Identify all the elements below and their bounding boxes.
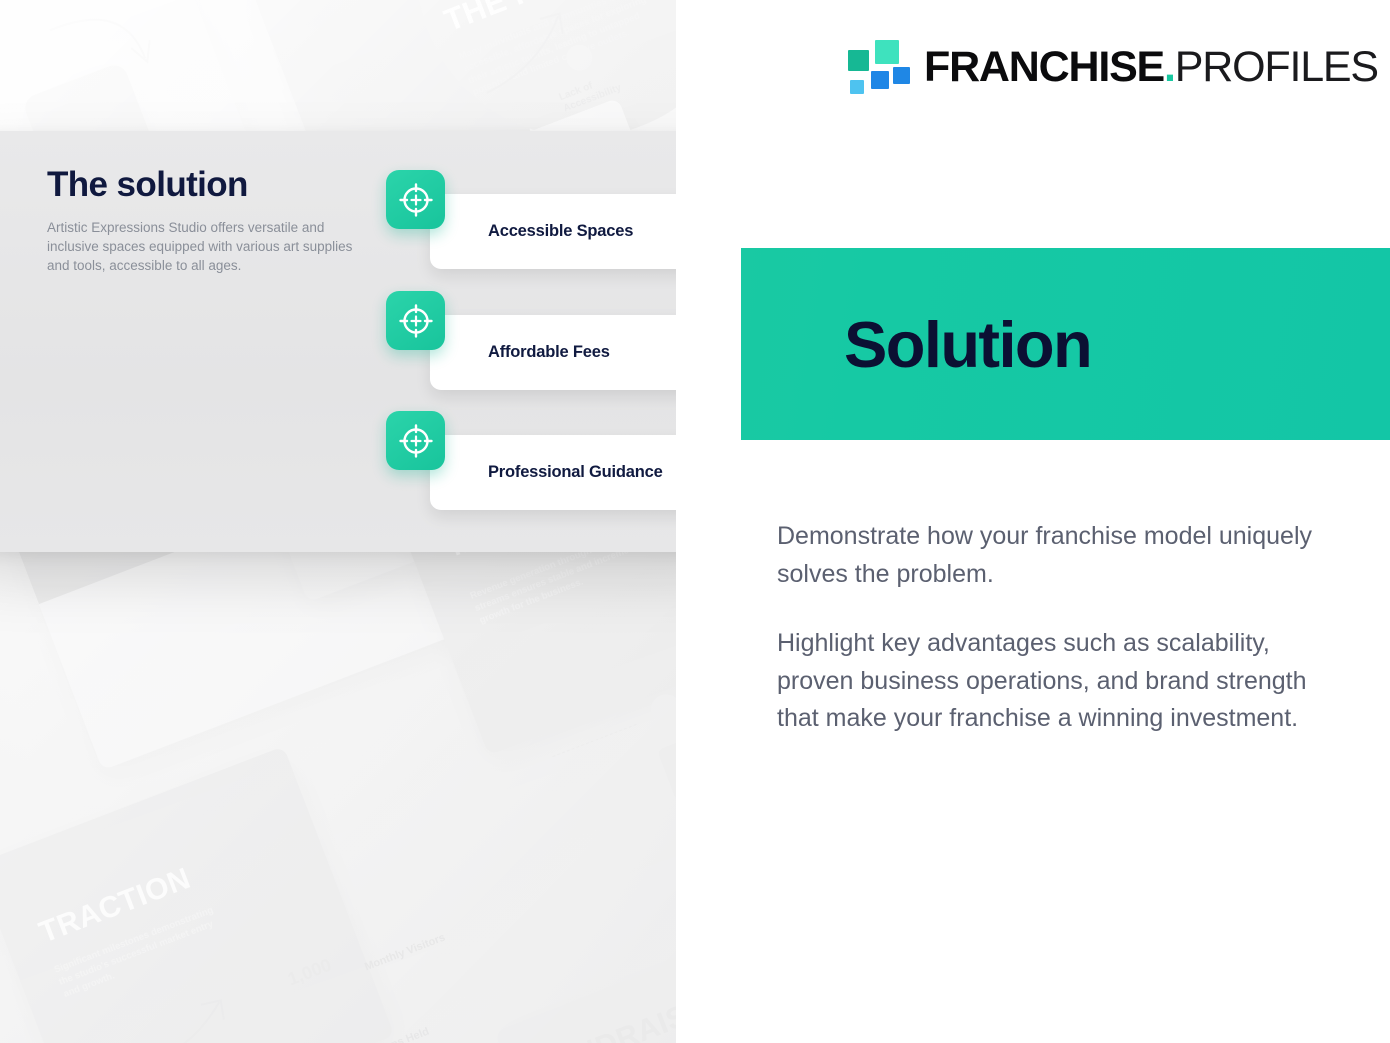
body-paragraph-1: Demonstrate how your franchise model uni… [777, 518, 1317, 593]
body-copy: Demonstrate how your franchise model uni… [777, 518, 1317, 738]
feature-card[interactable]: Affordable Fees [430, 315, 712, 390]
right-content-panel: FRANCHISE.PROFILES Solution Demonstrate … [676, 0, 1390, 1043]
brand-logo[interactable]: FRANCHISE.PROFILES [848, 38, 1378, 96]
ghost-stat-value: 1,000 [285, 955, 335, 991]
logo-wordmark: FRANCHISE.PROFILES [924, 46, 1378, 89]
logo-square-blue [893, 67, 910, 84]
logo-square-teal-dark [848, 50, 869, 71]
crosshair-target-icon [386, 170, 445, 229]
slide-preview-subtext: Artistic Expressions Studio offers versa… [47, 218, 367, 275]
logo-dot: . [1164, 43, 1175, 91]
logo-squares-mark [848, 38, 906, 96]
logo-word-profiles: PROFILES [1175, 43, 1378, 91]
ghost-stat-label: Workshops Held [346, 1026, 431, 1043]
feature-label: Accessible Spaces [430, 222, 633, 241]
logo-square-mint [875, 40, 899, 64]
body-paragraph-2: Highlight key advantages such as scalabi… [777, 625, 1317, 738]
feature-label: Affordable Fees [430, 343, 610, 362]
feature-row-accessible-spaces: Accessible Spaces [386, 170, 696, 270]
feature-row-professional-guidance: Professional Guidance [386, 411, 706, 511]
crosshair-target-icon [386, 411, 445, 470]
logo-square-light-blue [850, 80, 864, 94]
feature-card[interactable]: Accessible Spaces [430, 194, 712, 269]
page-title: Solution [844, 312, 1091, 377]
slide-preview-heading: The solution [47, 165, 248, 205]
logo-square-blue-mid [871, 71, 889, 89]
logo-word-franchise: FRANCHISE [924, 43, 1164, 91]
ghost-stat-label: Monthly Visitors [363, 932, 447, 974]
feature-label: Professional Guidance [430, 463, 663, 482]
solution-banner: Solution [741, 248, 1390, 440]
crosshair-target-icon [386, 291, 445, 350]
feature-row-affordable-fees: Affordable Fees [386, 291, 696, 391]
